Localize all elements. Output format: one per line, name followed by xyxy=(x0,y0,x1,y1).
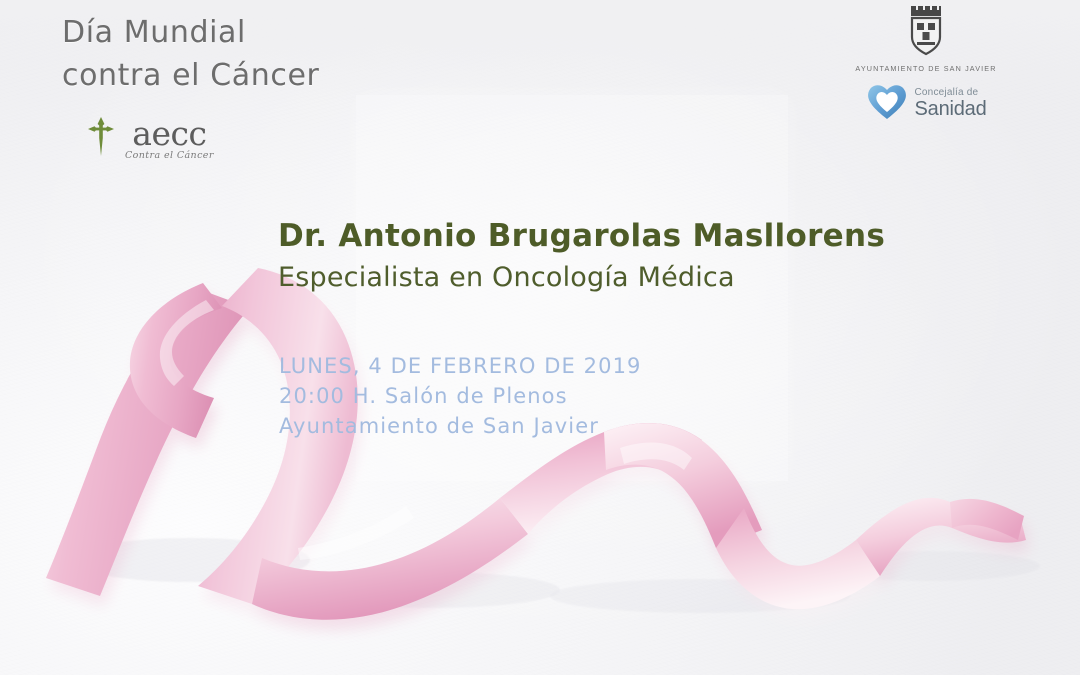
poster-canvas: Día Mundial contra el Cáncer aecc Contra… xyxy=(0,0,1080,675)
sanidad-text-group: Concejalía de Sanidad xyxy=(915,88,987,119)
aecc-wordmark-group: aecc Contra el Cáncer xyxy=(125,119,214,161)
sanidad-department-large: Sanidad xyxy=(915,99,987,119)
sanidad-logo: Concejalía de Sanidad xyxy=(866,82,987,124)
municipal-logo-block: AYUNTAMIENTO DE SAN JAVIER Conce xyxy=(838,6,1014,124)
santiago-cross-icon xyxy=(86,116,116,164)
san-javier-coat-of-arms-icon xyxy=(903,6,949,60)
speaker-specialty: Especialista en Oncología Médica xyxy=(278,262,735,293)
municipal-caption: AYUNTAMIENTO DE SAN JAVIER xyxy=(855,64,996,73)
sanidad-department-small: Concejalía de xyxy=(915,88,987,98)
aecc-logo: aecc Contra el Cáncer xyxy=(86,116,214,164)
aecc-tagline: Contra el Cáncer xyxy=(125,151,214,161)
speaker-name: Dr. Antonio Brugarolas Masllorens xyxy=(278,218,885,254)
event-details: LUNES, 4 DE FEBRERO DE 2019 20:00 H. Sal… xyxy=(279,352,642,441)
aecc-wordmark: aecc xyxy=(132,119,206,149)
page-title: Día Mundial contra el Cáncer xyxy=(62,12,319,97)
heart-swirl-icon xyxy=(866,82,908,124)
